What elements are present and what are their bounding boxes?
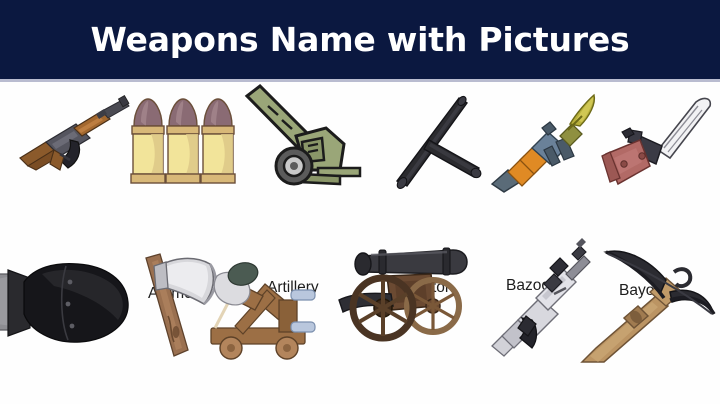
cannon-icon <box>335 242 470 354</box>
page-title: Weapons Name with Pictures <box>91 20 630 59</box>
bazooka-rpg-icon <box>490 92 602 194</box>
ak47-rifle-icon <box>16 98 136 178</box>
baton-icon <box>383 96 493 191</box>
artillery-howitzer-icon <box>244 84 362 192</box>
carbine-rifle-icon <box>488 238 593 358</box>
weapons-vocabulary-infographic: Weapons Name with Pictures <box>0 0 720 404</box>
ballista-icon <box>205 250 330 365</box>
ammo-bullets-icon <box>128 96 236 194</box>
atomic-bomb-icon <box>0 252 142 352</box>
crossbow-icon <box>580 244 720 369</box>
weapons-grid: Ak-47 <box>0 82 720 404</box>
bayonet-knife-icon <box>600 94 716 194</box>
page-header: Weapons Name with Pictures <box>0 0 720 79</box>
